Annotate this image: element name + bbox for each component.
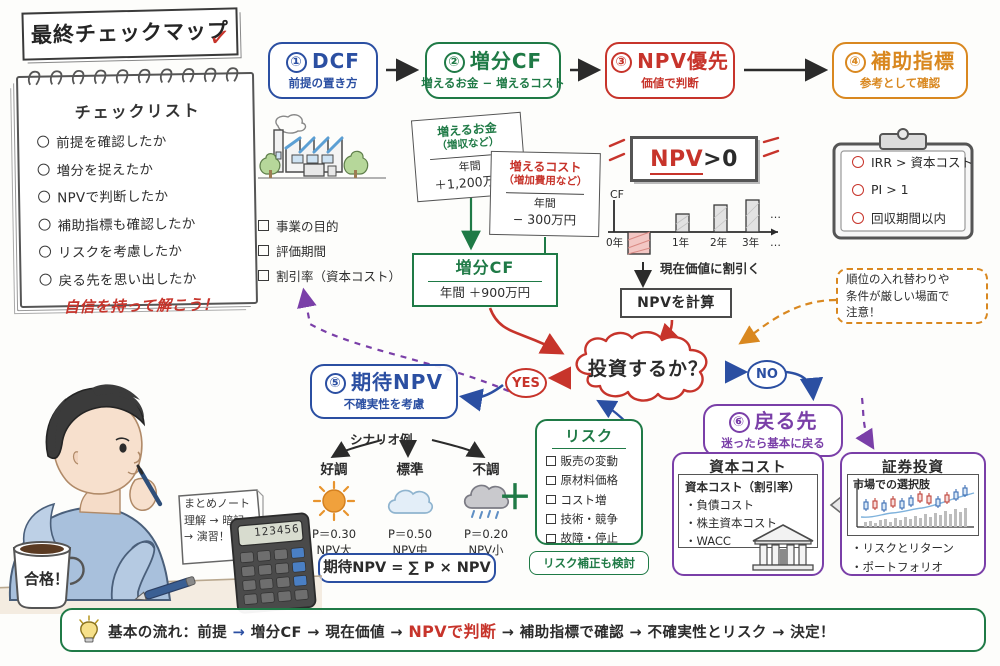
note-line: まとめノート xyxy=(184,496,250,513)
scenario-label: シナリオ例 xyxy=(350,429,413,448)
caution-line: 順位の入れ替わりや xyxy=(846,271,950,288)
step-subtitle: 増えるお金 − 増えるコスト xyxy=(421,76,564,90)
step-5-expected-npv[interactable]: ⑤期待NPV 不確実性を考慮 xyxy=(310,364,458,419)
step-4-aux-indicators[interactable]: ④補助指標 参考として確認 xyxy=(832,42,968,99)
checklist-footer: 自信を持って解こう！ xyxy=(36,293,246,318)
step-title: 増分CF xyxy=(470,49,542,73)
summary-arrow: → xyxy=(502,625,515,641)
arrow-caution-to-decision xyxy=(742,300,836,342)
risk-footer-badge: リスク補正も検討 xyxy=(529,551,649,575)
risk-item[interactable]: 販売の変動 xyxy=(546,454,632,468)
summary-part-3: NPVで判断 xyxy=(408,622,496,641)
summary-arrow: → xyxy=(307,625,320,641)
factory-illustration-icon xyxy=(252,108,392,213)
capital-cost-card: 資本コスト（割引率） ・負債コスト ・株主資本コスト ・WACC xyxy=(678,474,818,548)
summary-arrow: → xyxy=(772,625,785,641)
checklist-item[interactable]: 戻る先を思い出したか xyxy=(39,266,245,290)
risk-item-label: 故障・停止 xyxy=(561,531,619,545)
step-6-back-to-basics[interactable]: ⑥戻る先 迷ったら基本に戻る xyxy=(703,404,843,457)
circle-checkbox-icon[interactable] xyxy=(39,273,51,285)
checklist-item-label: リスクを考慮したか xyxy=(58,239,183,261)
cf-bars-ellipsis: … xyxy=(770,208,781,221)
cloud-icon xyxy=(372,479,448,523)
checklist-item-label: 前提を確認したか xyxy=(56,129,167,151)
npv-calc-label: NPVを計算 xyxy=(637,294,715,312)
square-checkbox-icon[interactable] xyxy=(546,456,556,466)
step-2-incremental-cf[interactable]: ②増分CF 増えるお金 − 増えるコスト xyxy=(425,42,561,99)
lightbulb-icon xyxy=(76,615,102,645)
capital-cost-bullet: ・負債コスト xyxy=(685,497,811,513)
square-checkbox-icon[interactable] xyxy=(258,220,269,231)
step-5-title-row: ⑤期待NPV xyxy=(325,370,443,395)
outflow-title: 増えるコスト xyxy=(510,159,582,175)
capital-cost-card-title: 資本コスト（割引率） xyxy=(685,479,811,495)
checklist-item-label: 補助指標も確認したか xyxy=(57,211,195,233)
step-number: ③ xyxy=(611,52,632,73)
check-icon: ✓ xyxy=(208,21,231,55)
summary-arrow: → xyxy=(390,625,403,641)
inflow-period: 年間 xyxy=(458,159,481,175)
step-subtitle: 前提の置き方 xyxy=(289,76,358,90)
summary-part-6: 決定！ xyxy=(790,625,835,641)
yes-badge[interactable]: YES xyxy=(505,368,547,398)
page-title: 最終チェックマップ xyxy=(31,18,230,50)
summary-part-5: 不確実性とリスク xyxy=(648,625,767,641)
premise-checklist: 事業の目的 評価期間 割引率（資本コスト） xyxy=(258,216,401,291)
summary-arrow: → xyxy=(630,625,643,641)
step-title: NPV優先 xyxy=(637,49,729,73)
scenario-name: 標準 xyxy=(372,458,448,478)
incremental-cf-value: 年間 ＋900万円 xyxy=(440,285,530,301)
aux-indicator-list: IRR > 資本コスト PI > 1 回収期間以内 xyxy=(852,152,973,238)
square-checkbox-icon[interactable] xyxy=(258,270,269,281)
step-4-title-row: ④補助指標 xyxy=(845,49,955,74)
step-subtitle: 価値で判断 xyxy=(641,76,699,90)
checklist-item[interactable]: リスクを考慮したか xyxy=(39,238,245,262)
risk-item-label: 原材料価格 xyxy=(561,473,619,487)
divider xyxy=(552,448,627,449)
circle-checkbox-icon[interactable] xyxy=(39,246,51,258)
arrow-scenario-right xyxy=(432,440,482,456)
spiral-rings-icon xyxy=(24,65,252,89)
cf-tick-ellipsis: … xyxy=(770,236,781,249)
checklist-heading: チェックリスト xyxy=(32,96,242,124)
step-2-title-row: ②増分CF xyxy=(444,49,542,74)
step-1-dcf[interactable]: ①DCF 前提の置き方 xyxy=(268,42,378,99)
securities-bullet: ・ポートフォリオ xyxy=(851,559,954,575)
risk-item[interactable]: 故障・停止 xyxy=(546,531,632,545)
step-6-title-row: ⑥戻る先 xyxy=(729,409,818,434)
scenario-probability: P＝0.20 xyxy=(448,526,524,542)
step-number: ④ xyxy=(845,52,866,73)
risk-item-label: 技術・競争 xyxy=(561,512,619,526)
pen-icon xyxy=(132,572,208,606)
circle-checkbox-icon[interactable] xyxy=(852,212,864,224)
outflow-amount: − 300万円 xyxy=(513,211,577,229)
incremental-cf-title: 増分CF xyxy=(456,258,515,279)
scenario-probability: P＝0.50 xyxy=(372,526,448,542)
checklist-item-label: NPVで判断したか xyxy=(57,184,169,206)
outflow-slip: 増えるコスト （増加費用など） 年間 − 300万円 xyxy=(489,151,601,237)
cf-tick-3: 3年 xyxy=(742,236,759,249)
summary-arrow: → xyxy=(233,625,246,641)
incremental-cf-result-box: 増分CF 年間 ＋900万円 xyxy=(412,253,558,307)
square-checkbox-icon[interactable] xyxy=(546,476,556,486)
divider xyxy=(506,192,584,195)
step-number: ② xyxy=(444,52,465,73)
cf-tick-1: 1年 xyxy=(672,236,689,249)
securities-bullets: ・リスクとリターン ・ポートフォリオ xyxy=(851,540,954,578)
step-number: ① xyxy=(286,52,307,73)
caution-note: 順位の入れ替わりや 条件が厳しい場面で 注意！ xyxy=(836,268,988,324)
step-3-npv-priority[interactable]: ③NPV優先 価値で判断 xyxy=(605,42,735,99)
premise-checkbox-row[interactable]: 評価期間 xyxy=(258,241,401,260)
circle-checkbox-icon[interactable] xyxy=(852,156,864,168)
aux-indicator-item[interactable]: 回収期間以内 xyxy=(852,208,973,227)
arrow-result-to-decision xyxy=(490,308,560,352)
cf-axis-label: CF xyxy=(610,188,624,201)
checklist-item[interactable]: NPVで判断したか xyxy=(38,183,244,207)
step-title: DCF xyxy=(312,49,360,73)
premise-checkbox-row[interactable]: 事業の目的 xyxy=(258,216,401,235)
sparkle-left-icon xyxy=(604,136,630,166)
divider xyxy=(428,281,542,282)
decision-cloud-label: 投資するか？ xyxy=(562,330,734,404)
risk-item[interactable]: 技術・競争 xyxy=(546,512,632,526)
square-checkbox-icon[interactable] xyxy=(546,534,556,544)
arrow-step6-to-securities xyxy=(862,398,872,446)
premise-checkbox-row[interactable]: 割引率（資本コスト） xyxy=(258,266,401,285)
aux-indicator-item[interactable]: PI > 1 xyxy=(852,182,973,197)
aux-indicator-label: PI > 1 xyxy=(871,182,909,197)
outflow-subtitle: （増加費用など） xyxy=(503,174,587,189)
circle-checkbox-icon[interactable] xyxy=(38,191,50,203)
cf-tick-2: 2年 xyxy=(710,236,727,249)
summary-label: 基本の流れ： xyxy=(108,625,197,641)
expected-npv-formula: 期待NPV = ∑ P × NPV xyxy=(318,553,496,583)
arrow-no-to-step6 xyxy=(786,372,813,396)
risk-item[interactable]: コスト増 xyxy=(546,493,632,507)
square-checkbox-icon[interactable] xyxy=(546,495,556,505)
npv-board-condition: >0 xyxy=(703,147,738,172)
npv-board-text: NPV>0 xyxy=(650,147,738,172)
risk-item[interactable]: 原材料価格 xyxy=(546,473,632,487)
npv-calc-box: NPVを計算 xyxy=(620,288,732,318)
step-1-title-row: ①DCF xyxy=(286,49,360,74)
checklist-item[interactable]: 増分を捉えたか xyxy=(37,156,243,180)
premise-label: 評価期間 xyxy=(276,241,326,260)
decision-cloud[interactable]: 投資するか？ xyxy=(562,330,734,404)
checklist-item[interactable]: 前提を確認したか xyxy=(37,128,243,152)
market-chart-title: 市場での選択肢 xyxy=(853,476,930,492)
scenario-standard: 標準 P＝0.50 NPV中 xyxy=(372,458,448,558)
risk-footer-label: リスク補正も検討 xyxy=(543,556,635,570)
no-badge[interactable]: NO xyxy=(747,360,787,389)
outflow-period: 年間 xyxy=(534,196,556,211)
risk-item-label: コスト増 xyxy=(561,493,607,507)
risk-item-label: 販売の変動 xyxy=(561,454,619,468)
securities-bullet: ・リスクとリターン xyxy=(851,540,954,556)
step-number: ⑤ xyxy=(325,373,346,394)
summary-part-4: 補助指標で確認 xyxy=(520,625,624,641)
checklist-notepad: チェックリスト 前提を確認したか 増分を捉えたか NPVで判断したか 補助指標も… xyxy=(16,72,258,308)
step-subtitle: 参考として確認 xyxy=(860,76,940,90)
premise-label: 割引率（資本コスト） xyxy=(276,266,401,285)
checklist-item-label: 増分を捉えたか xyxy=(56,157,153,179)
mug-text: 合格！ xyxy=(24,568,69,589)
checklist-item[interactable]: 補助指標も確認したか xyxy=(38,211,244,235)
aux-indicator-label: 回収期間以内 xyxy=(871,208,946,227)
cf-tick-0: 0年 xyxy=(606,236,623,249)
step-number: ⑥ xyxy=(729,412,750,433)
square-checkbox-icon[interactable] xyxy=(258,245,269,256)
risk-heading: リスク xyxy=(565,427,613,446)
circle-checkbox-icon[interactable] xyxy=(37,136,49,148)
aux-indicator-label: IRR > 資本コスト xyxy=(871,152,973,171)
circle-checkbox-icon[interactable] xyxy=(38,218,50,230)
bank-building-icon xyxy=(751,523,815,573)
circle-checkbox-icon[interactable] xyxy=(852,184,864,196)
step-title: 補助指標 xyxy=(871,49,955,73)
expected-npv-formula-text: 期待NPV = ∑ P × NPV xyxy=(323,559,491,577)
step-subtitle: 不確実性を考慮 xyxy=(344,397,425,411)
arrow-yes-to-step5 xyxy=(464,385,503,398)
checklist-item-label: 戻る先を思い出したか xyxy=(58,266,196,288)
summary-bar: 基本の流れ：前提 → 増分CF → 現在価値 → NPVで判断 → 補助指標で確… xyxy=(60,608,986,652)
summary-part-0: 前提 xyxy=(197,625,227,641)
summary-part-2: 現在価値 xyxy=(325,625,385,641)
risk-box: リスク 販売の変動 原材料価格 コスト増 技術・競争 故障・停止 xyxy=(535,419,643,545)
square-checkbox-icon[interactable] xyxy=(546,514,556,524)
npv-greater-than-zero-board: NPV>0 xyxy=(630,136,758,182)
premise-label: 事業の目的 xyxy=(276,216,339,235)
circle-checkbox-icon[interactable] xyxy=(38,163,50,175)
aux-indicator-item[interactable]: IRR > 資本コスト xyxy=(852,152,973,171)
sparkle-right-icon xyxy=(760,136,786,166)
step-title: 戻る先 xyxy=(755,409,818,433)
npv-board-label: NPV xyxy=(650,147,703,175)
plus-sign: ＋ xyxy=(498,470,532,519)
discount-caption: 現在価値に割引く xyxy=(660,258,760,277)
summary-text: 基本の流れ：前提 → 増分CF → 現在価値 → NPVで判断 → 補助指標で確… xyxy=(108,618,835,642)
page-title-banner: 最終チェックマップ ✓ xyxy=(21,7,238,60)
step-3-title-row: ③NPV優先 xyxy=(611,49,729,74)
caution-line: 注意！ xyxy=(846,304,881,321)
summary-part-1: 増分CF xyxy=(251,625,302,641)
step-title: 期待NPV xyxy=(351,370,443,394)
step-subtitle: 迷ったら基本に戻る xyxy=(721,436,825,450)
caution-line: 条件が厳しい場面で xyxy=(846,288,950,305)
